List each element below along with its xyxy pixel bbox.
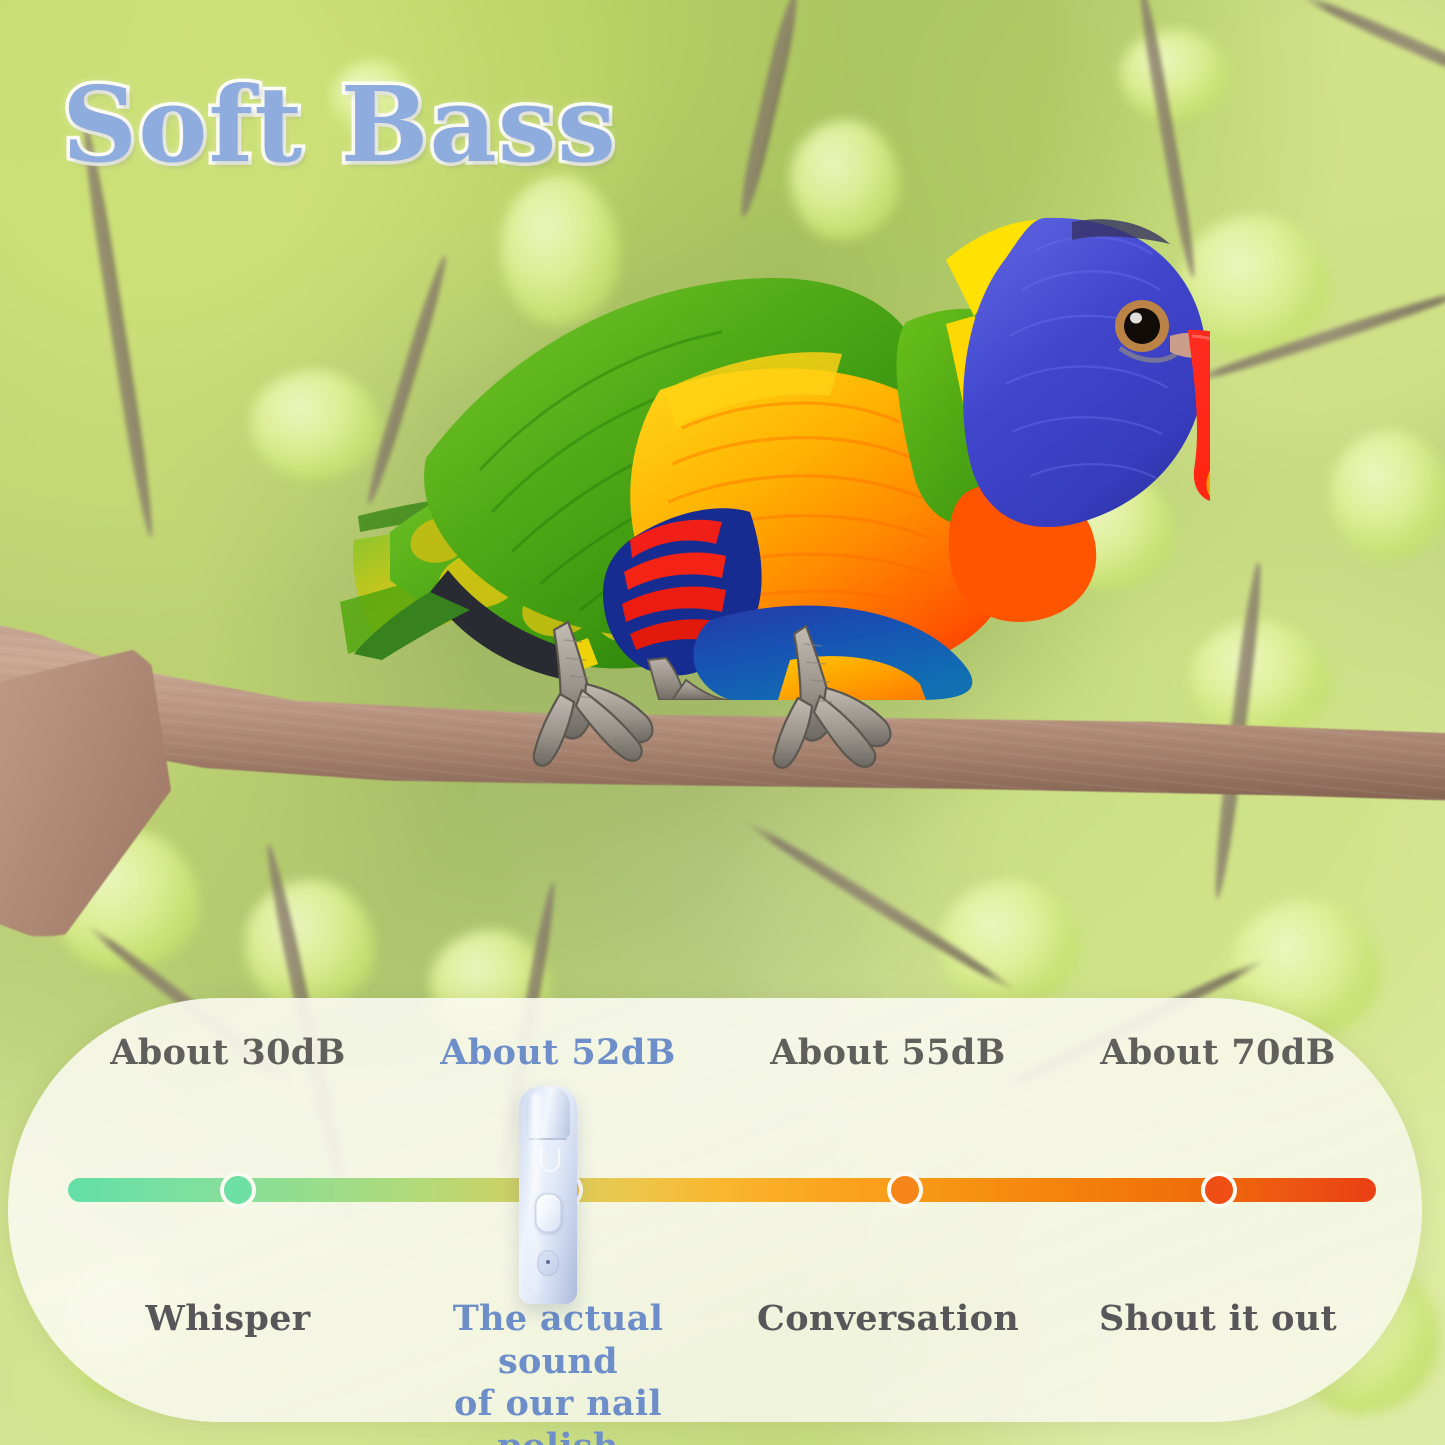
- device-indicator-light: [537, 1250, 559, 1276]
- bird-claws: [520, 620, 940, 780]
- loudness-scale-card: About 30dB About 52dB About 55dB About 7…: [8, 998, 1422, 1422]
- db-label: About 55dB: [723, 1032, 1053, 1073]
- slider-marker-1[interactable]: [220, 1172, 256, 1208]
- gradient-track: [68, 1178, 1376, 1202]
- slider-marker-4[interactable]: [1201, 1172, 1237, 1208]
- db-label: About 70dB: [1053, 1032, 1383, 1073]
- blossom-icon: [940, 880, 1080, 1010]
- blossom-icon: [245, 880, 375, 1010]
- scale-name: Conversation: [723, 1298, 1053, 1341]
- scale-point-4: About 70dB: [1053, 1032, 1383, 1073]
- loudness-slider[interactable]: [68, 1178, 1376, 1202]
- page-title: Soft Bass: [62, 63, 617, 186]
- slider-marker-3[interactable]: [887, 1172, 923, 1208]
- scale-point-1-name: Whisper: [63, 1298, 393, 1445]
- scale-name: Shout it out: [1053, 1298, 1383, 1341]
- blossom-icon: [1330, 430, 1445, 560]
- rainbow-lorikeet: [330, 140, 1210, 700]
- blossom-icon: [1120, 30, 1230, 120]
- db-label-row: About 30dB About 52dB About 55dB About 7…: [8, 1032, 1422, 1073]
- db-label: About 52dB: [393, 1032, 723, 1073]
- name-label-row: Whisper The actual sound of our nail pol…: [8, 1298, 1422, 1445]
- product-infographic: Soft Bass About 30dB About 52dB About 55…: [0, 0, 1445, 1445]
- device-vee-marking: [540, 1148, 560, 1172]
- db-label: About 30dB: [63, 1032, 393, 1073]
- device-power-button[interactable]: [535, 1193, 562, 1233]
- scale-point-4-name: Shout it out: [1053, 1298, 1383, 1445]
- scale-point-2: About 52dB: [393, 1032, 723, 1073]
- scale-point-3: About 55dB: [723, 1032, 1053, 1073]
- scale-name: The actual sound: [393, 1298, 723, 1383]
- scale-name: Whisper: [63, 1298, 393, 1341]
- scale-point-2-name: The actual sound of our nail polish: [393, 1298, 723, 1445]
- scale-name-line2: of our nail polish: [393, 1383, 723, 1445]
- scale-point-1: About 30dB: [63, 1032, 393, 1073]
- nail-polish-device: [519, 1086, 577, 1304]
- scale-point-3-name: Conversation: [723, 1298, 1053, 1445]
